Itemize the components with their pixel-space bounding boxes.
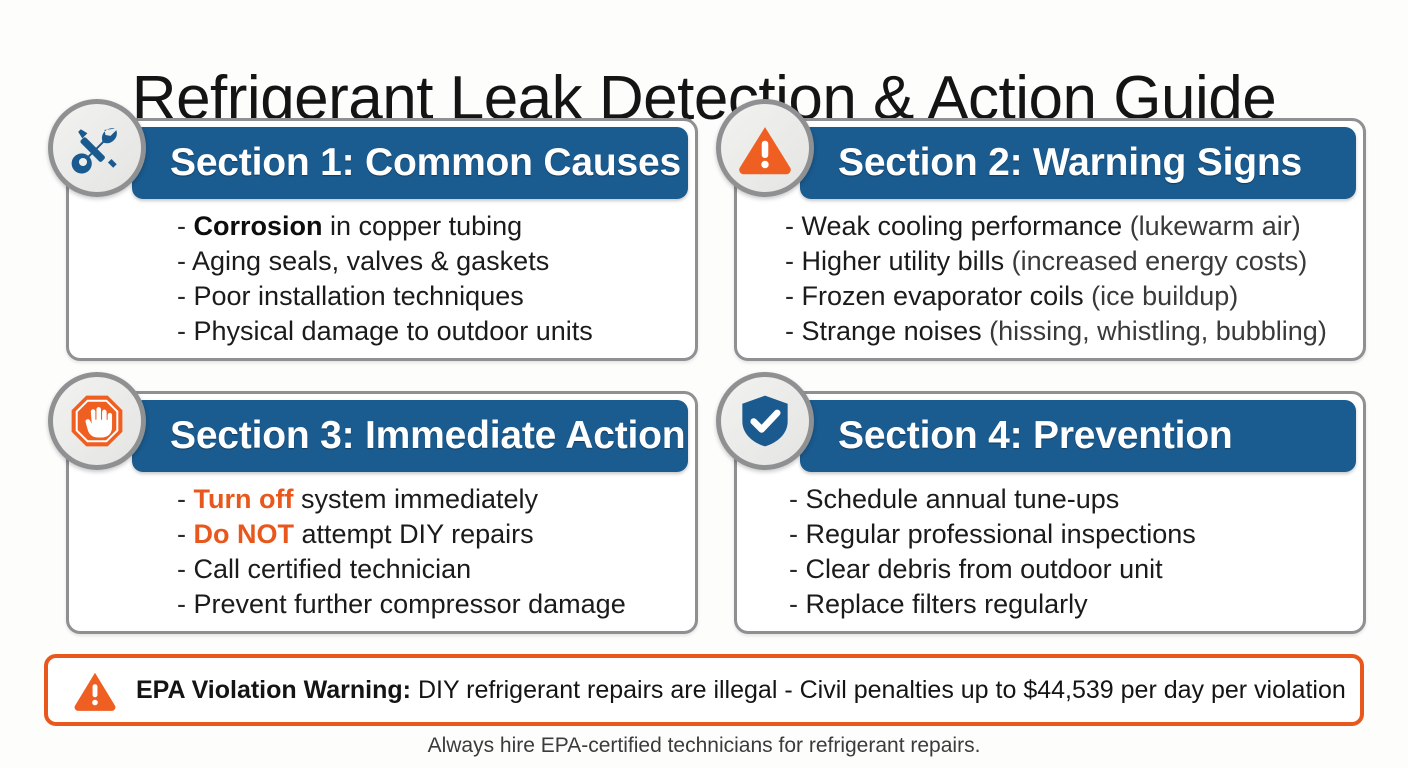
- bullet-emphasis: Turn off: [194, 484, 294, 514]
- bullet-dash: -: [177, 484, 186, 514]
- section-title: Section 4: Prevention: [838, 414, 1233, 458]
- bullet-list: - Weak cooling performance (lukewarm air…: [737, 209, 1363, 349]
- bullet-paren: (increased energy costs): [1004, 246, 1307, 276]
- bullet-text: Call certified technician: [194, 554, 472, 584]
- stop-hand-icon: [48, 372, 146, 470]
- bullet-paren: (ice buildup): [1084, 281, 1239, 311]
- bullet-text: Physical damage to outdoor units: [194, 316, 593, 346]
- bullet-dash: -: [177, 211, 186, 241]
- infographic-page: Refrigerant Leak Detection & Action Guid…: [0, 0, 1408, 768]
- shield-check-icon: [716, 372, 814, 470]
- epa-warning-label: EPA Violation Warning:: [136, 676, 411, 704]
- warning-triangle-icon: [72, 667, 118, 713]
- bullet-dash: -: [177, 246, 186, 276]
- section-card-grid: Section 1: Common Causes - Corrosion in …: [66, 118, 1366, 634]
- list-item: - Poor installation techniques: [175, 279, 695, 314]
- bullet-text: Weak cooling performance: [802, 211, 1123, 241]
- bullet-text: system immediately: [293, 484, 538, 514]
- epa-violation-warning-banner: EPA Violation Warning: DIY refrigerant r…: [44, 654, 1364, 726]
- bullet-list: - Corrosion in copper tubing - Aging sea…: [69, 209, 695, 349]
- bullet-text: Higher utility bills: [802, 246, 1005, 276]
- bullet-paren: (hissing, whistling, bubbling): [982, 316, 1327, 346]
- list-item: - Schedule annual tune-ups: [787, 482, 1363, 517]
- bullet-dash: -: [785, 281, 794, 311]
- bullet-text: Poor installation techniques: [194, 281, 524, 311]
- list-item: - Frozen evaporator coils (ice buildup): [783, 279, 1363, 314]
- bullet-dash: -: [785, 211, 794, 241]
- warning-triangle-icon: [716, 99, 814, 197]
- bullet-text: Prevent further compressor damage: [194, 589, 626, 619]
- list-item: - Strange noises (hissing, whistling, bu…: [783, 314, 1363, 349]
- section-body: - Corrosion in copper tubing - Aging sea…: [69, 209, 695, 349]
- section-card-common-causes: Section 1: Common Causes - Corrosion in …: [66, 118, 698, 361]
- bullet-dash: -: [789, 554, 798, 584]
- section-header-bar: Section 4: Prevention: [800, 400, 1356, 472]
- bullet-text: Regular professional inspections: [806, 519, 1196, 549]
- list-item: - Do NOT attempt DIY repairs: [175, 517, 695, 552]
- bullet-dash: -: [177, 281, 186, 311]
- section-body: - Turn off system immediately - Do NOT a…: [69, 482, 695, 622]
- bullet-emphasis: Do NOT: [194, 519, 295, 549]
- bullet-list: - Turn off system immediately - Do NOT a…: [69, 482, 695, 622]
- list-item: - Prevent further compressor damage: [175, 587, 695, 622]
- section-body: - Schedule annual tune-ups - Regular pro…: [737, 482, 1363, 622]
- tools-icon: [48, 99, 146, 197]
- section-title: Section 2: Warning Signs: [838, 141, 1302, 185]
- list-item: - Higher utility bills (increased energy…: [783, 244, 1363, 279]
- section-card-warning-signs: Section 2: Warning Signs - Weak cooling …: [734, 118, 1366, 361]
- bullet-dash: -: [785, 316, 794, 346]
- footer-note: Always hire EPA-certified technicians fo…: [0, 733, 1408, 759]
- list-item: - Turn off system immediately: [175, 482, 695, 517]
- section-card-immediate-action: Section 3: Immediate Action - Turn off s…: [66, 391, 698, 634]
- bullet-dash: -: [177, 554, 186, 584]
- section-header-bar: Section 3: Immediate Action: [132, 400, 688, 472]
- bullet-list: - Schedule annual tune-ups - Regular pro…: [737, 482, 1363, 622]
- bullet-text: Clear debris from outdoor unit: [806, 554, 1163, 584]
- bullet-dash: -: [789, 589, 798, 619]
- bullet-text: Aging seals, valves & gaskets: [192, 246, 549, 276]
- list-item: - Aging seals, valves & gaskets: [175, 244, 695, 279]
- bullet-dash: -: [177, 316, 186, 346]
- list-item: - Regular professional inspections: [787, 517, 1363, 552]
- list-item: - Corrosion in copper tubing: [175, 209, 695, 244]
- list-item: - Call certified technician: [175, 552, 695, 587]
- bullet-paren: (lukewarm air): [1122, 211, 1301, 241]
- section-body: - Weak cooling performance (lukewarm air…: [737, 209, 1363, 349]
- section-header-bar: Section 2: Warning Signs: [800, 127, 1356, 199]
- bullet-dash: -: [177, 519, 186, 549]
- bullet-text: attempt DIY repairs: [294, 519, 534, 549]
- epa-warning-text: EPA Violation Warning: DIY refrigerant r…: [136, 675, 1346, 705]
- bullet-text: Schedule annual tune-ups: [806, 484, 1120, 514]
- bullet-dash: -: [785, 246, 794, 276]
- epa-warning-message: DIY refrigerant repairs are illegal - Ci…: [411, 676, 1346, 704]
- list-item: - Replace filters regularly: [787, 587, 1363, 622]
- list-item: - Physical damage to outdoor units: [175, 314, 695, 349]
- section-header-bar: Section 1: Common Causes: [132, 127, 688, 199]
- bullet-text: Replace filters regularly: [806, 589, 1088, 619]
- list-item: - Weak cooling performance (lukewarm air…: [783, 209, 1363, 244]
- section-title: Section 1: Common Causes: [170, 141, 681, 185]
- section-card-prevention: Section 4: Prevention - Schedule annual …: [734, 391, 1366, 634]
- bullet-text: Frozen evaporator coils: [802, 281, 1084, 311]
- list-item: - Clear debris from outdoor unit: [787, 552, 1363, 587]
- bullet-strong: Corrosion: [194, 211, 323, 241]
- bullet-dash: -: [789, 519, 798, 549]
- bullet-dash: -: [177, 589, 186, 619]
- bullet-text: in copper tubing: [323, 211, 523, 241]
- bullet-text: Strange noises: [802, 316, 982, 346]
- section-title: Section 3: Immediate Action: [170, 414, 685, 458]
- bullet-dash: -: [789, 484, 798, 514]
